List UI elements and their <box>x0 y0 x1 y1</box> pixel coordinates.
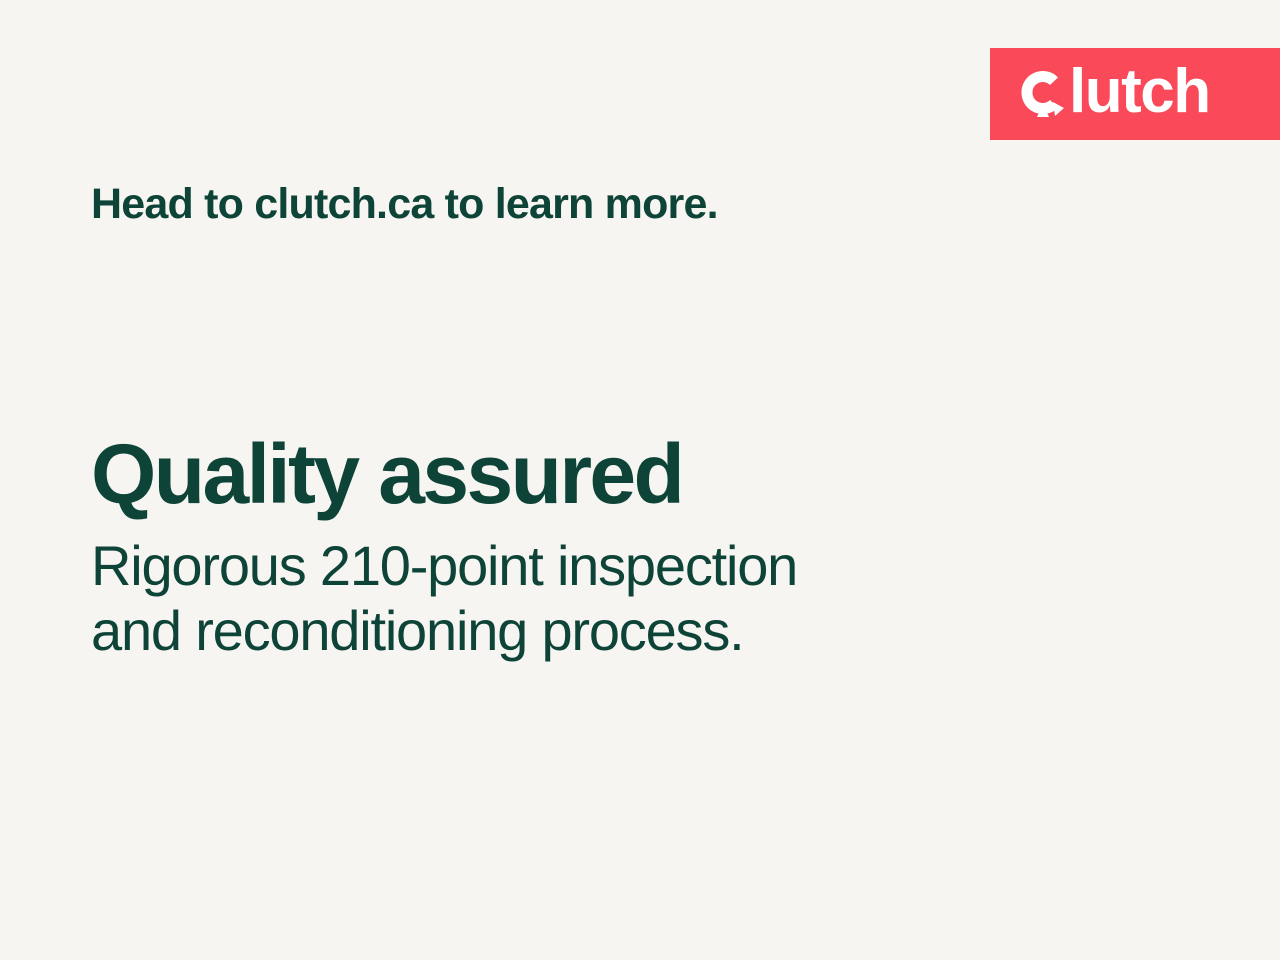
subhead: Rigorous 210-point inspection and recond… <box>91 534 971 664</box>
headline: Quality assured <box>91 432 1091 516</box>
subhead-line-2: and reconditioning process. <box>91 599 971 664</box>
subhead-line-1: Rigorous 210-point inspection <box>91 534 971 599</box>
message-block: Quality assured Rigorous 210-point inspe… <box>91 432 1091 664</box>
brand-wordmark: lutch <box>1069 61 1210 123</box>
clutch-c-mark-icon <box>1020 69 1066 119</box>
brand-logo-lockup: lutch <box>1020 63 1210 125</box>
slide-canvas: lutch Head to clutch.ca to learn more. Q… <box>0 0 1280 960</box>
brand-banner: lutch <box>990 48 1280 140</box>
eyebrow-text: Head to clutch.ca to learn more. <box>91 181 718 228</box>
